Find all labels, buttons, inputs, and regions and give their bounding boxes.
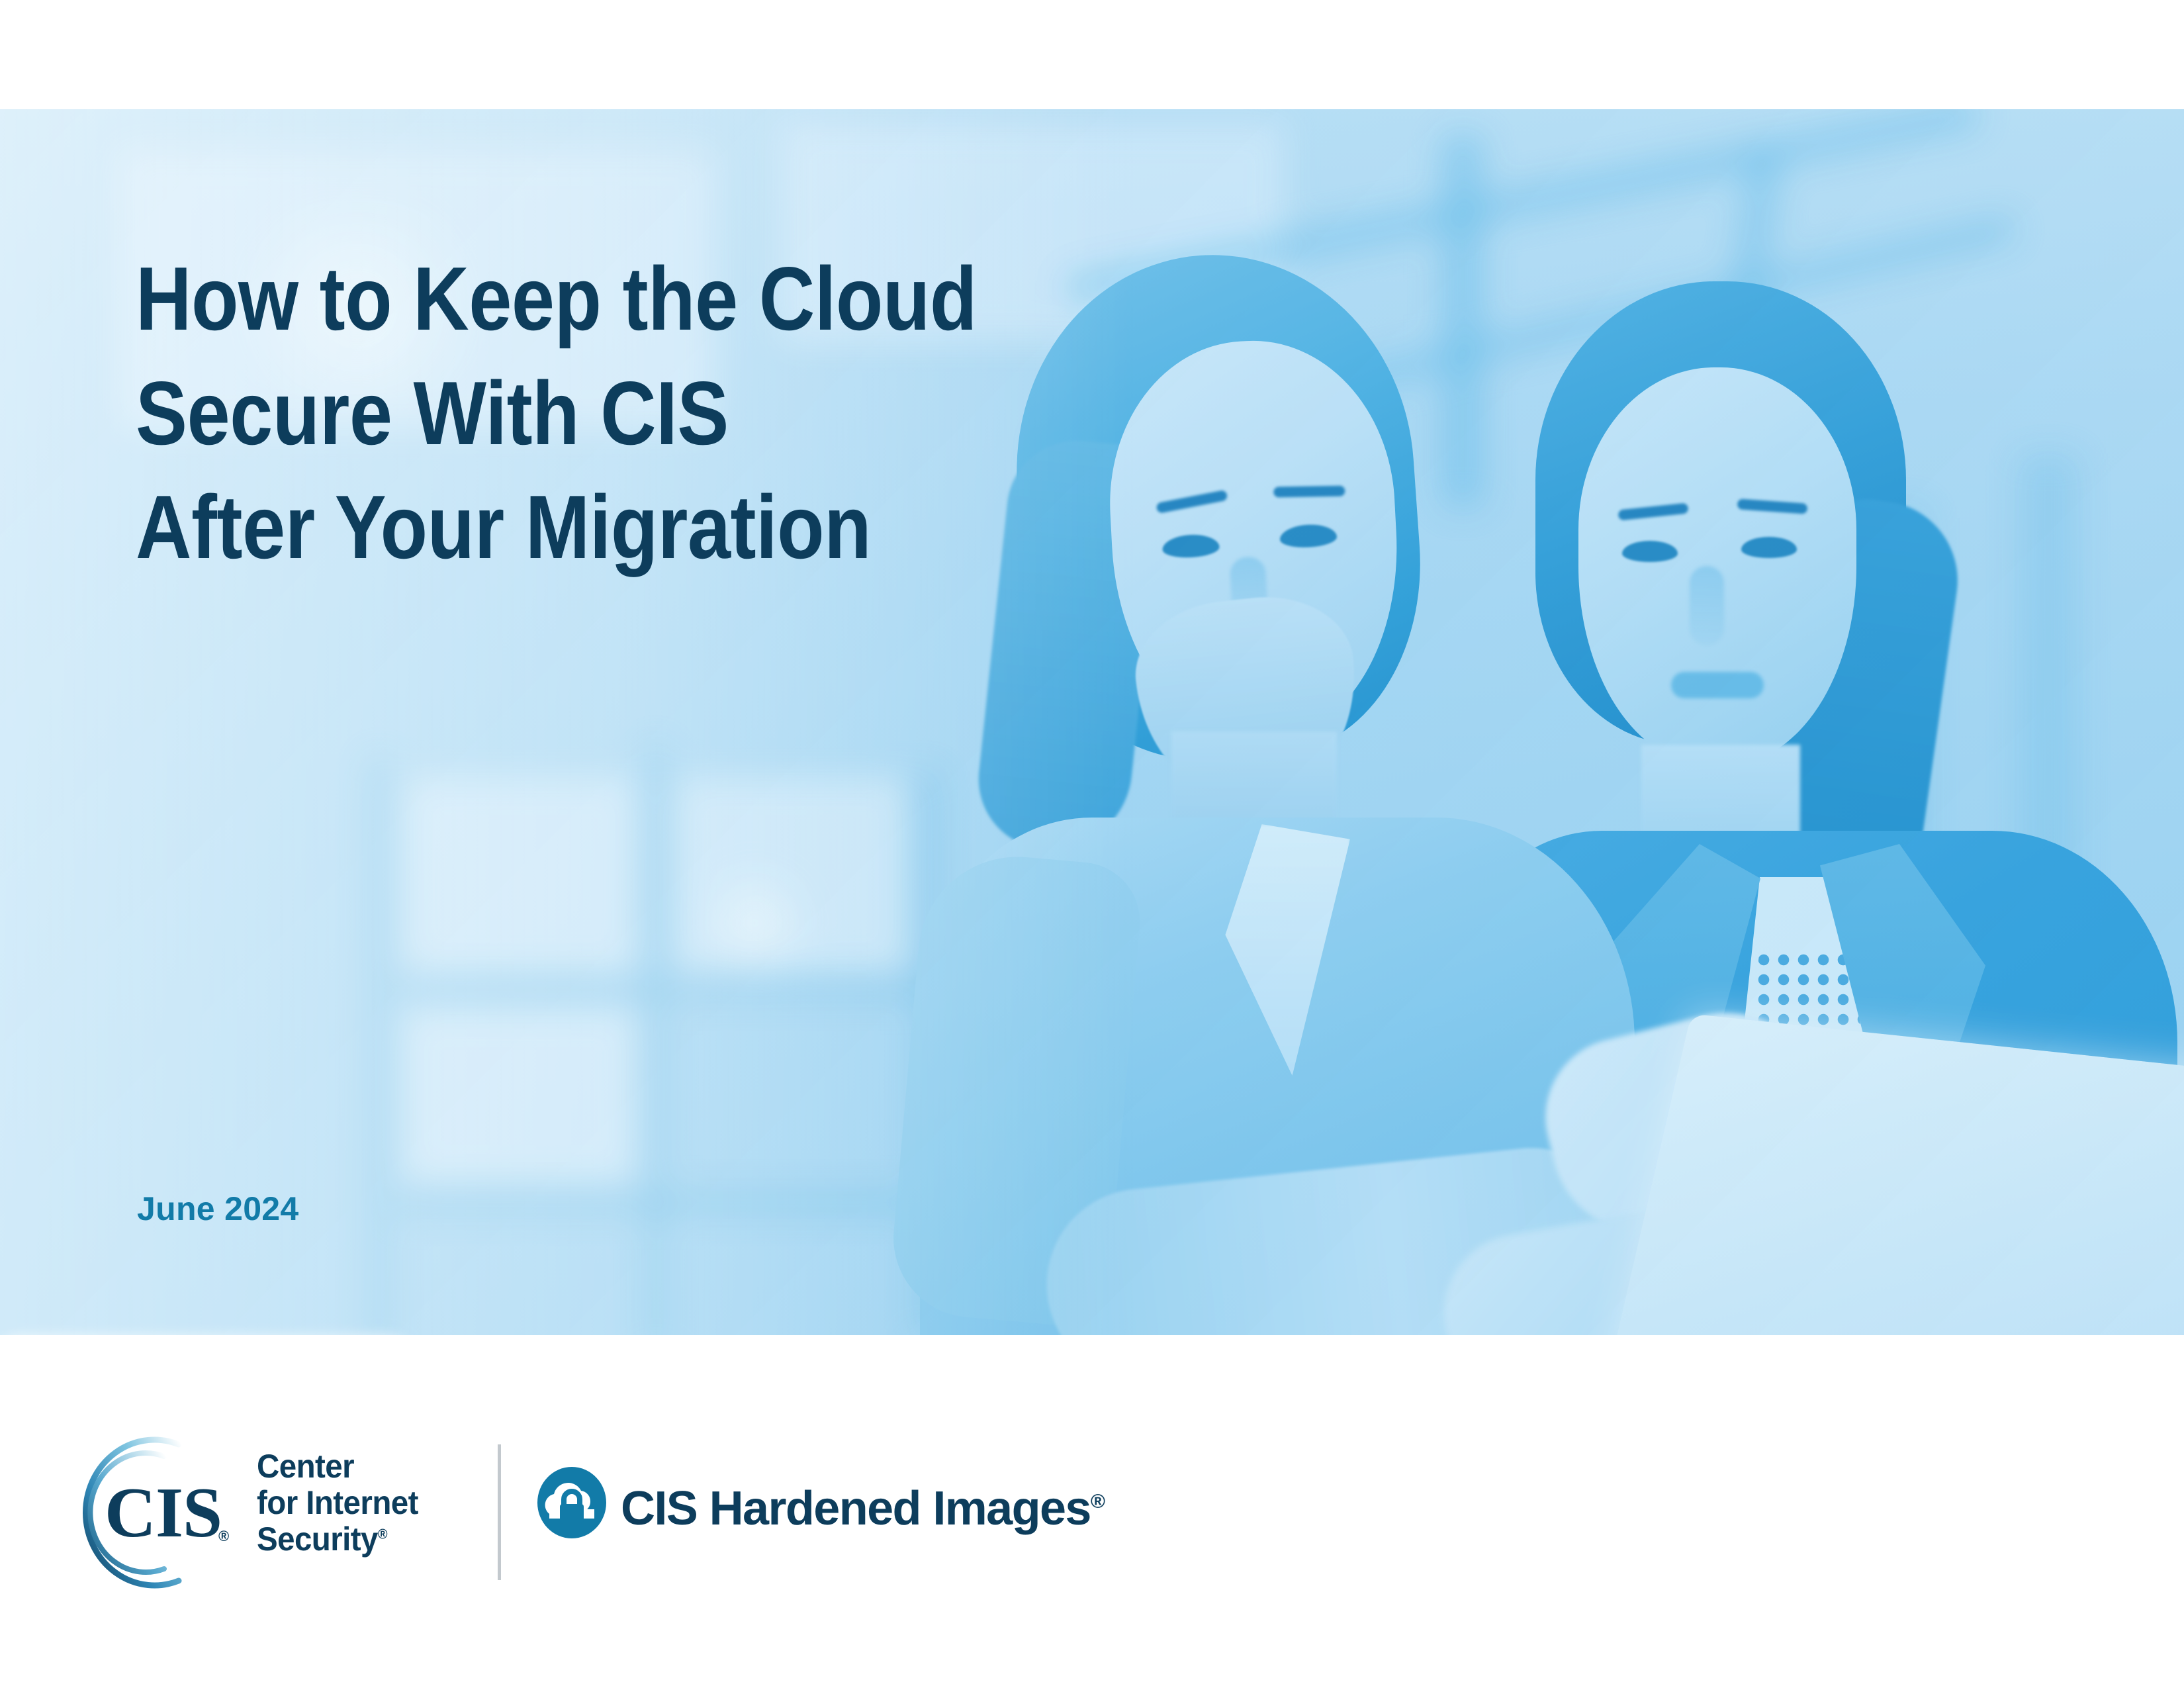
page-title: How to Keep the Cloud Secure With CIS Af… xyxy=(136,242,1058,585)
cis-tagline: Center for Internet Security® xyxy=(257,1448,418,1558)
cis-tagline-registered: ® xyxy=(378,1526,387,1542)
cis-hardened-images-label: CIS Hardened Images® xyxy=(621,1469,1104,1542)
cis-tagline-line-3: Security® xyxy=(257,1521,418,1558)
cis-hardened-images-text: CIS Hardened Images xyxy=(621,1482,1091,1535)
photo-laptop-screen xyxy=(1595,1014,2184,1335)
cis-hardened-images-registered: ® xyxy=(1091,1491,1105,1513)
cloud-lock-icon xyxy=(536,1467,608,1538)
cis-wordmark-registered: ® xyxy=(218,1528,229,1545)
cis-tagline-line-1: Center xyxy=(257,1448,418,1485)
title-line-2: Secure With CIS xyxy=(136,356,1058,471)
footer-logo-bar: CIS ® Center for Internet Security® CIS … xyxy=(0,1364,2184,1648)
title-line-1: How to Keep the Cloud xyxy=(136,242,1058,356)
cis-wordmark: CIS xyxy=(105,1474,230,1553)
title-line-3: After Your Migration xyxy=(136,470,1058,585)
cis-tagline-line-2: for Internet xyxy=(257,1485,418,1521)
cis-tagline-line-3-text: Security xyxy=(257,1521,378,1558)
issue-date: June 2024 xyxy=(137,1190,299,1228)
logo-divider xyxy=(498,1444,501,1580)
cis-hardened-images-logo[interactable]: CIS Hardened Images® xyxy=(536,1463,1330,1562)
cis-logo[interactable]: CIS ® Center for Internet Security® xyxy=(79,1436,490,1589)
